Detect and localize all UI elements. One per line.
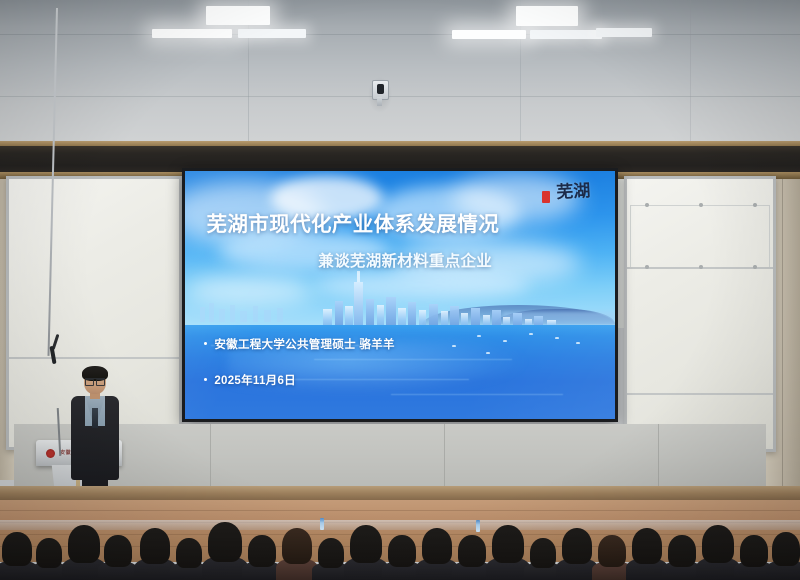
audience-head	[530, 538, 556, 568]
whiteboard-divider	[627, 393, 773, 395]
boat	[486, 352, 490, 354]
projection-screen-frame: 芜湖 芜湖市现代化产业体系发展情况 兼谈芜湖新材料重点企业 安徽工程大学公共管理…	[182, 168, 618, 422]
ceiling-light-panel	[238, 29, 306, 38]
lower-wall-seam	[658, 424, 659, 490]
presenter-tie	[92, 408, 98, 428]
ceiling-seam	[0, 34, 800, 35]
audience-head	[458, 535, 486, 567]
water-ripple	[391, 394, 563, 395]
slide-bullet-presenter: 安徽工程大学公共管理硕士 骆羊羊	[204, 336, 395, 352]
building	[253, 306, 259, 322]
university-emblem-icon	[46, 449, 55, 458]
lower-wall-seam	[444, 424, 445, 490]
ceiling-light-panel	[530, 30, 602, 39]
logo-calligraphy-text: 芜湖	[553, 182, 593, 226]
slide-title: 芜湖市现代化产业体系发展情况	[207, 207, 500, 237]
landmark-tower	[354, 282, 363, 330]
audience-head	[68, 525, 100, 563]
ceiling-seam	[0, 96, 800, 97]
cityscape-skyline	[323, 280, 564, 330]
audience-head	[772, 532, 800, 566]
far-cityscape	[198, 295, 293, 322]
audience-head	[140, 528, 170, 564]
boat	[452, 345, 456, 347]
mic-segment	[49, 346, 56, 364]
audience-head	[248, 535, 276, 567]
ceiling-seam	[690, 0, 691, 150]
whiteboard-panel	[630, 205, 770, 269]
audience-head	[388, 535, 416, 567]
building	[219, 309, 226, 322]
audience-head	[104, 535, 132, 567]
audience-head	[492, 525, 524, 563]
camera-mount-arm	[377, 97, 382, 106]
whiteboard-clip	[753, 265, 757, 269]
wuhu-calligraphy-logo: 芜湖	[542, 183, 594, 225]
slide-bullet-date: 2025年11月6日	[204, 372, 296, 388]
bullet-text: 安徽工程大学公共管理硕士 骆羊羊	[214, 339, 395, 351]
whiteboard-clip	[699, 265, 703, 269]
building	[264, 310, 271, 322]
audience-head	[668, 535, 696, 567]
ceiling-light-panel	[452, 30, 526, 39]
building	[277, 308, 283, 322]
building	[240, 311, 248, 322]
whiteboard-clip	[645, 265, 649, 269]
audience-head	[176, 538, 202, 568]
audience-head	[562, 528, 592, 564]
building	[200, 307, 206, 322]
lower-wall-panel	[14, 424, 766, 490]
bullet-dot-icon	[204, 342, 207, 345]
audience-head	[350, 525, 382, 563]
whiteboard-right	[624, 176, 776, 452]
audience-head	[598, 535, 626, 567]
ceiling-light-panel	[152, 29, 232, 38]
ceiling-light-panel	[206, 6, 270, 25]
hanging-microphone-icon	[48, 334, 64, 364]
audience-head	[632, 528, 662, 564]
bullet-text: 2025年11月6日	[214, 375, 296, 387]
ceiling-camera-icon	[372, 80, 387, 108]
audience-head	[2, 532, 32, 566]
building	[209, 303, 214, 322]
boat	[555, 337, 559, 339]
audience-head	[740, 535, 768, 567]
whiteboard-clip	[753, 203, 757, 207]
lecture-hall-photo: 芜湖 芜湖市现代化产业体系发展情况 兼谈芜湖新材料重点企业 安徽工程大学公共管理…	[0, 0, 800, 580]
boat	[503, 340, 507, 342]
whiteboard-clip	[645, 203, 649, 207]
whiteboard-divider	[9, 357, 179, 359]
ceiling-light-panel	[596, 28, 652, 37]
audience-silhouettes	[0, 495, 800, 580]
audience-head	[208, 522, 242, 562]
camera-lens	[377, 84, 384, 94]
whiteboard-clip	[699, 203, 703, 207]
ceiling-light-panel	[516, 6, 578, 26]
building	[230, 305, 235, 322]
bullet-dot-icon	[204, 378, 207, 381]
audience-head	[702, 525, 734, 563]
glasses-icon	[85, 378, 105, 384]
presentation-slide: 芜湖 芜湖市现代化产业体系发展情况 兼谈芜湖新材料重点企业 安徽工程大学公共管理…	[185, 171, 615, 419]
right-wall-seam	[782, 150, 783, 490]
water-ripple	[314, 359, 512, 360]
audience-head	[422, 528, 452, 564]
red-seal-icon	[542, 191, 550, 203]
audience-head	[318, 538, 344, 568]
ceiling	[0, 0, 800, 150]
slide-subtitle: 兼谈芜湖新材料重点企业	[318, 249, 492, 271]
lower-wall-seam	[210, 424, 211, 490]
audience-head	[36, 538, 62, 568]
audience-head	[282, 528, 312, 564]
